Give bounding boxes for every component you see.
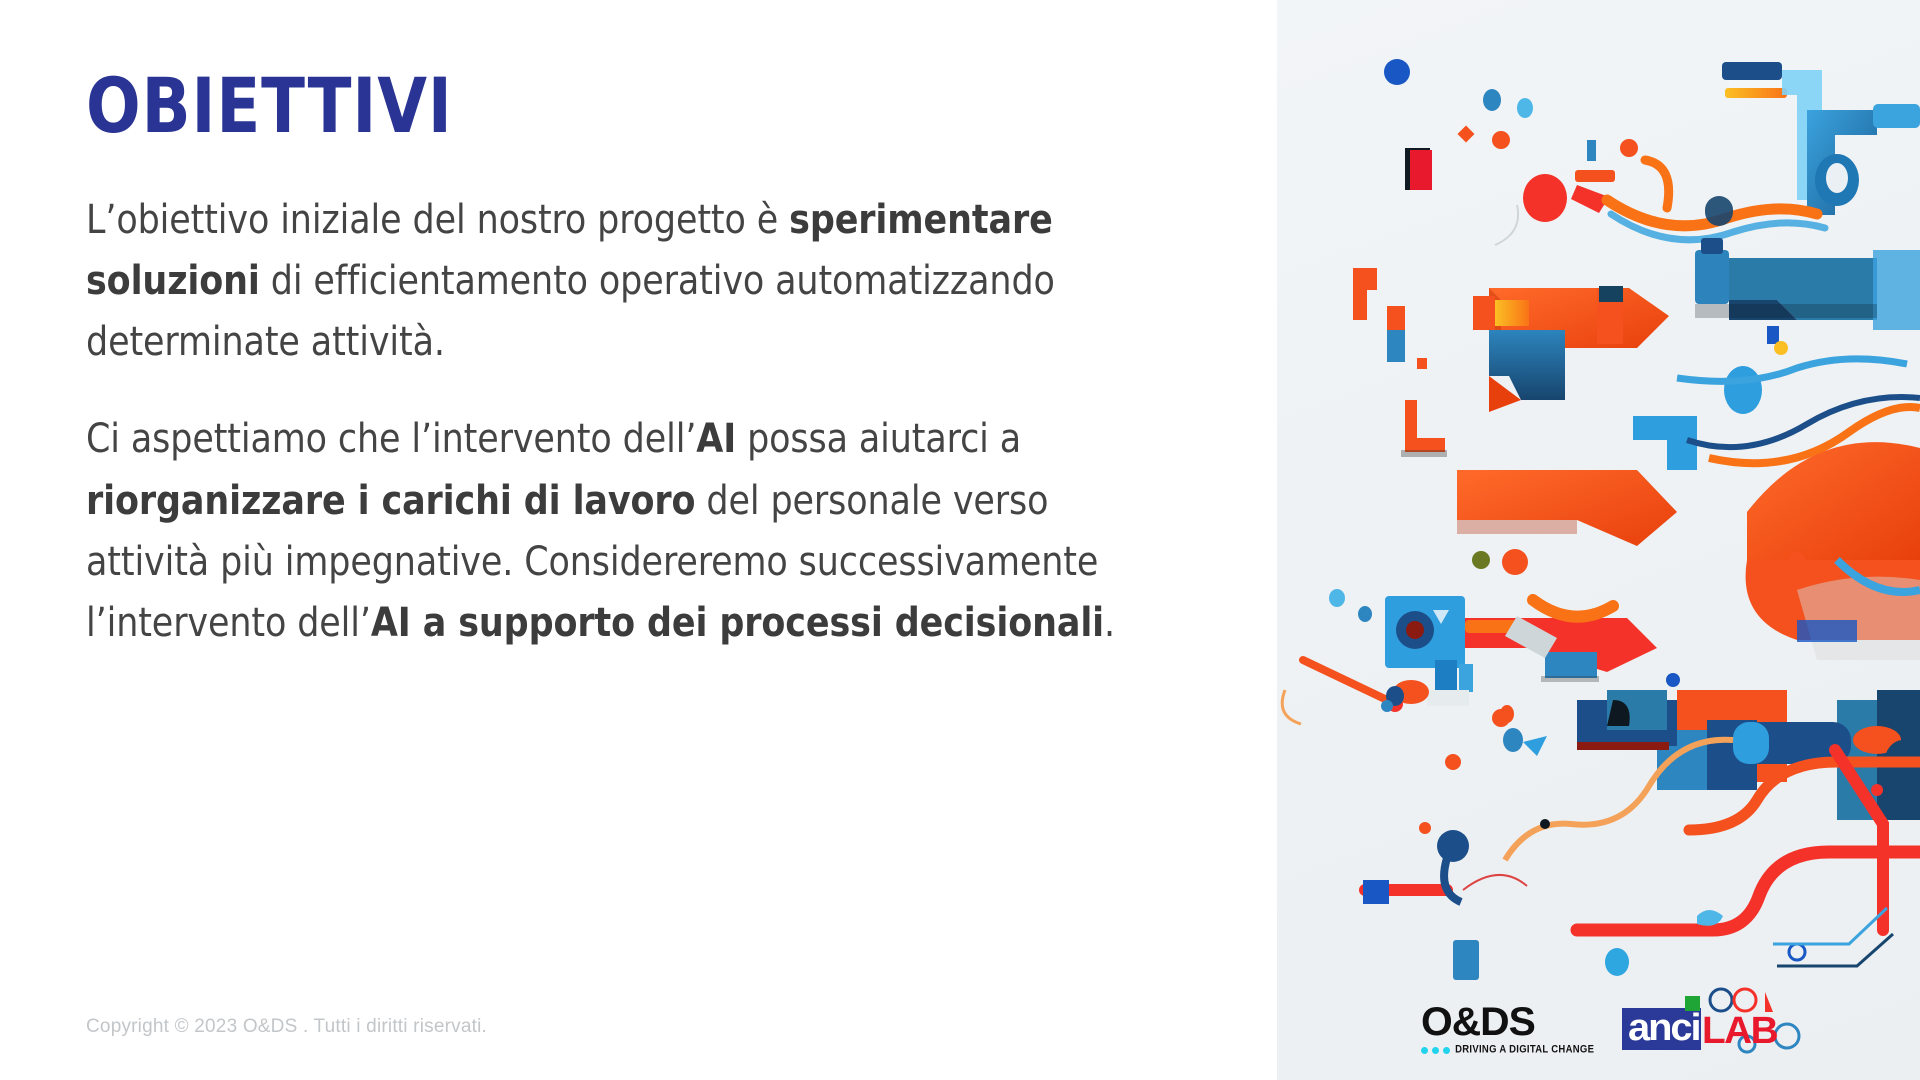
ancilab-logo: anci LAB [1622, 1008, 1776, 1050]
paragraph-1: L’obiettivo iniziale del nostro progetto… [86, 190, 1182, 374]
page-title: OBIETTIVI [86, 40, 1149, 146]
ods-dots-icon [1421, 1047, 1450, 1054]
ancilab-word-anci: anci [1628, 1010, 1699, 1047]
ancilab-word-lab: LAB [1702, 1013, 1777, 1050]
body-text-block: L’obiettivo iniziale del nostro progetto… [86, 190, 1217, 654]
ods-wordmark: O&DS [1421, 1002, 1535, 1042]
ods-tagline: DRIVING A DIGITAL CHANGE [1455, 1043, 1594, 1056]
ods-tagline-row: DRIVING A DIGITAL CHANGE [1421, 1045, 1594, 1056]
copyright-footer: Copyright © 2023 O&DS . Tutti i diritti … [86, 1016, 487, 1038]
text-run: . [1104, 600, 1115, 646]
text-run: L’obiettivo iniziale del nostro progetto… [86, 197, 789, 243]
slide-content-area: OBIETTIVI L’obiettivo iniziale del nostr… [0, 0, 1277, 1080]
artwork-panel: O&DS DRIVING A DIGITAL CHANGE anci LAB [1277, 0, 1920, 1080]
text-run: possa aiutarci a [736, 416, 1021, 462]
presentation-slide: OBIETTIVI L’obiettivo iniziale del nostr… [0, 0, 1920, 1080]
logo-row: O&DS DRIVING A DIGITAL CHANGE anci LAB [1277, 994, 1920, 1064]
abstract-tech-3d-render [1277, 0, 1920, 1080]
text-run-bold: AI a supporto dei processi decisionali [371, 600, 1104, 646]
text-run: Ci aspettiamo che l’intervento dell’ [86, 416, 696, 462]
text-run-bold: AI [696, 416, 736, 462]
ods-logo: O&DS DRIVING A DIGITAL CHANGE [1421, 1002, 1594, 1056]
ancilab-box: anci [1622, 1008, 1701, 1050]
paragraph-2: Ci aspettiamo che l’intervento dell’AI p… [86, 409, 1182, 654]
text-run-bold: riorganizzare i carichi di lavoro [86, 478, 695, 524]
